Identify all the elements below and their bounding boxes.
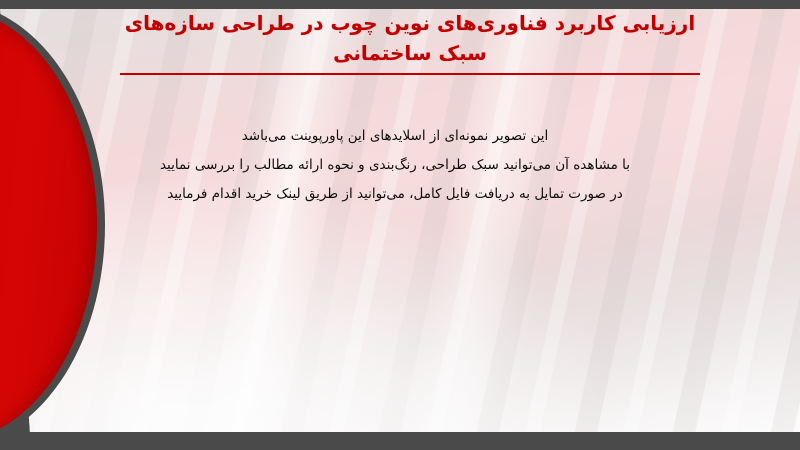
slide-title-block: ارزیابی کاربرد فناوری‌های نوین چوب در طر…	[120, 9, 700, 75]
presentation-slide: ارزیابی کاربرد فناوری‌های نوین چوب در طر…	[0, 0, 800, 450]
body-line-2: با مشاهده آن می‌توانید سبک طراحی، رنگ‌بن…	[110, 151, 680, 180]
frame-band-bottom	[0, 432, 800, 450]
slide-body-block: این تصویر نمونه‌ای از اسلایدهای این پاور…	[110, 122, 680, 209]
body-line-3: در صورت تمایل به دریافت فایل کامل، می‌تو…	[110, 180, 680, 209]
title-underline-rule	[120, 73, 700, 75]
page-title: ارزیابی کاربرد فناوری‌های نوین چوب در طر…	[120, 9, 700, 68]
body-line-1: این تصویر نمونه‌ای از اسلایدهای این پاور…	[110, 122, 680, 151]
frame-band-top	[0, 0, 800, 9]
